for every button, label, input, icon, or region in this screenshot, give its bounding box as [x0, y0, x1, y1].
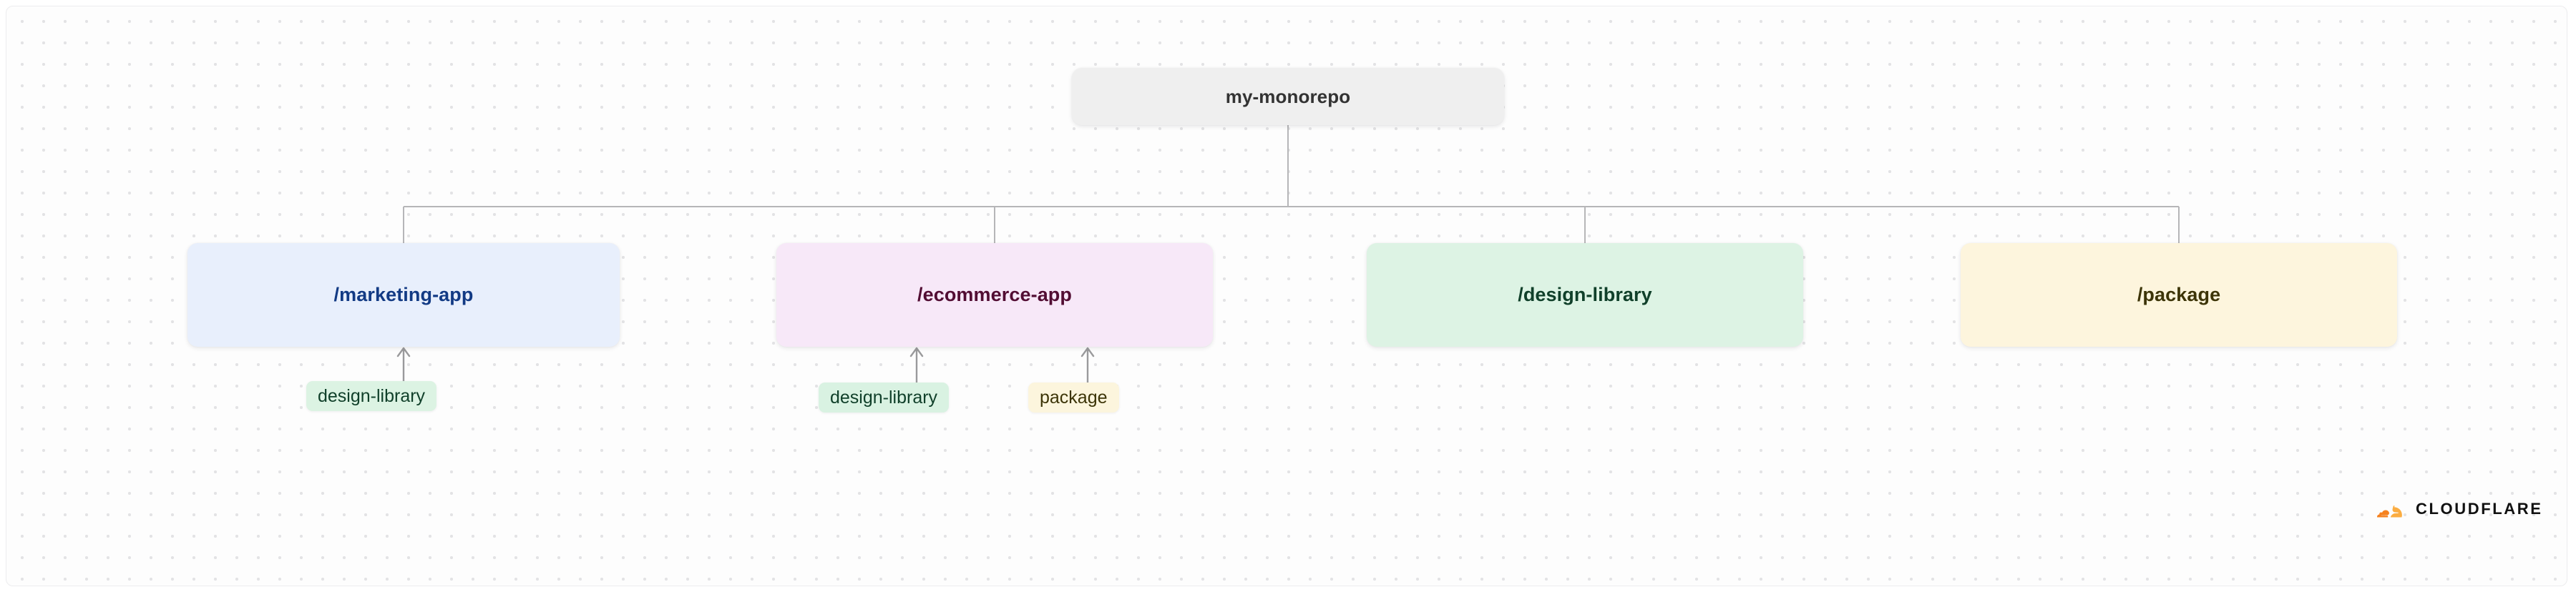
dependency-arrow-1 — [911, 348, 922, 383]
node-label: /marketing-app — [334, 284, 474, 306]
cloudflare-logo: CLOUDFLARE — [2361, 498, 2543, 520]
tree-connectors — [404, 125, 2179, 243]
dependency-arrow-2 — [1082, 348, 1093, 383]
node-label: /design-library — [1518, 284, 1652, 306]
project-node-ecommerce-app[interactable]: /ecommerce-app — [776, 243, 1213, 347]
project-node-package[interactable]: /package — [1961, 243, 2397, 347]
dependency-arrow-0 — [398, 348, 409, 381]
project-node-design-library[interactable]: /design-library — [1367, 243, 1803, 347]
root-node-my-monorepo[interactable]: my-monorepo — [1072, 68, 1504, 125]
cloudflare-cloud-icon — [2361, 498, 2406, 520]
project-node-marketing-app[interactable]: /marketing-app — [187, 243, 620, 347]
dependency-chip-design-library-of-ecommerce-app[interactable]: design-library — [819, 383, 949, 413]
cloudflare-wordmark: CLOUDFLARE — [2416, 501, 2543, 517]
dependency-chip-design-library-of-marketing-app[interactable]: design-library — [306, 381, 436, 411]
chip-label: design-library — [830, 388, 937, 408]
diagram-canvas[interactable]: my-monorepo/marketing-appdesign-library/… — [6, 6, 2567, 586]
dependency-chip-package-of-ecommerce-app[interactable]: package — [1028, 383, 1119, 413]
node-label: my-monorepo — [1226, 86, 1350, 108]
chip-label: design-library — [318, 386, 425, 407]
node-label: /ecommerce-app — [917, 284, 1072, 306]
chip-label: package — [1040, 388, 1108, 408]
node-label: /package — [2137, 284, 2220, 306]
